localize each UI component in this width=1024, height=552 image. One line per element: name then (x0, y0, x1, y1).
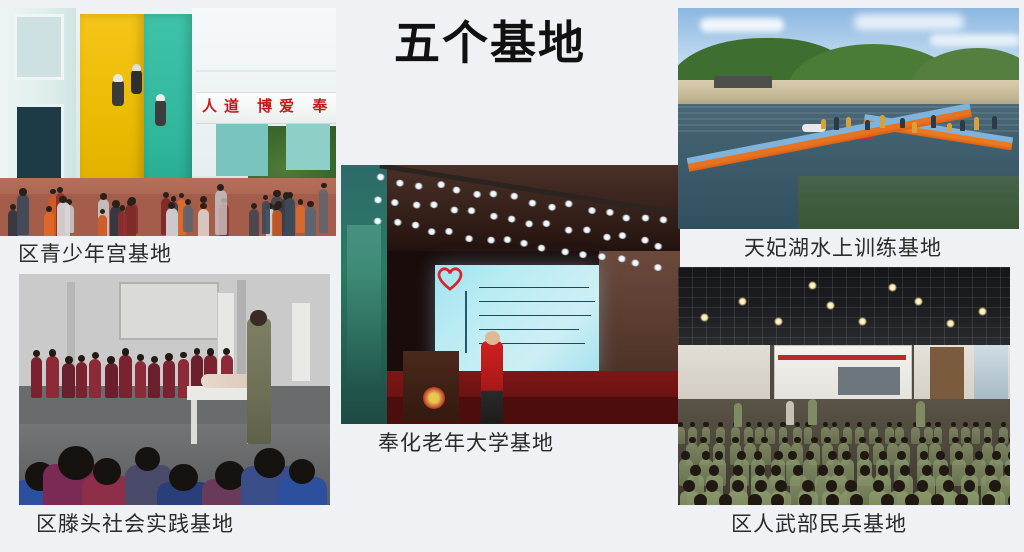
ceiling-lights (678, 267, 1010, 345)
spectator-head (273, 204, 279, 210)
spectator-head (287, 192, 293, 198)
stage-light (506, 215, 516, 223)
stage-light (450, 206, 460, 214)
spectator (285, 198, 294, 236)
militia-head (860, 465, 870, 475)
screen-image-area (838, 367, 900, 395)
spectator (305, 207, 316, 236)
militia-head (951, 422, 956, 427)
trainee (900, 118, 905, 128)
foreground-children (19, 424, 330, 505)
spectator (17, 194, 29, 235)
militia-head (683, 480, 695, 492)
spectator-crowd (0, 160, 336, 236)
presentation-slide: 五个基地 人道 博爱 奉献 区青少年宫基地 (0, 0, 1024, 552)
militia-head (860, 451, 869, 460)
student-head (65, 356, 73, 364)
stage-light (413, 182, 423, 190)
ceiling-lamp (700, 313, 709, 322)
militia-head (964, 480, 976, 492)
militia-head (706, 480, 718, 492)
photo-tengtou-practice-base (19, 274, 330, 505)
cpr-manikin (201, 374, 253, 388)
instructor-head (250, 310, 267, 326)
militia-head (955, 451, 964, 460)
militia-head (975, 451, 984, 460)
militia-head (818, 465, 828, 475)
child-head (169, 464, 197, 491)
stage-light (616, 254, 626, 262)
cloud (700, 18, 784, 32)
militia-head (834, 465, 844, 475)
spectator-head (179, 193, 184, 198)
militia-head (900, 465, 910, 475)
stage-light (427, 227, 437, 235)
militia-head (716, 437, 723, 444)
militia-head (984, 437, 991, 444)
trainee (865, 120, 870, 130)
stage-light (489, 212, 499, 220)
stage-light (653, 263, 663, 271)
screen-text-line (479, 329, 579, 330)
student-head (33, 350, 40, 357)
climber-one (112, 80, 124, 106)
militia-head (832, 422, 837, 427)
seated-student (163, 360, 176, 398)
militia-head (922, 465, 932, 475)
militia-head (1008, 451, 1010, 460)
militia-head (845, 480, 857, 492)
climber-one-helmet (113, 74, 123, 82)
wall-column-right (237, 280, 246, 386)
spectator (57, 202, 69, 236)
stage-light (466, 207, 476, 215)
ceiling-lamp (914, 297, 923, 306)
militia-head (897, 451, 906, 460)
stage-light (373, 196, 383, 204)
militia-head (799, 494, 812, 505)
militia-head (733, 465, 743, 475)
militia-head (718, 422, 723, 427)
militia-head (878, 465, 888, 475)
stage-light (578, 250, 588, 258)
militia-head (901, 437, 908, 444)
presenter (734, 403, 742, 427)
caption-youth-palace-base: 区青少年宫基地 (18, 241, 172, 267)
stage-light (486, 235, 496, 243)
militia-head (700, 437, 707, 444)
militia-head (788, 451, 797, 460)
child-head (58, 446, 93, 480)
militia-head (732, 437, 739, 444)
student-head (194, 348, 201, 355)
stage-light (395, 179, 405, 187)
trainee (974, 117, 979, 130)
spectator-head (263, 195, 268, 200)
ceiling-lamp (808, 281, 817, 290)
stage-light (393, 219, 403, 227)
seated-student (135, 361, 146, 398)
spectator-head (307, 201, 314, 208)
militia-head (859, 437, 866, 444)
stage-light (542, 219, 552, 227)
militia-head (694, 494, 707, 505)
stage-light (411, 221, 421, 229)
militia-head (850, 494, 863, 505)
student-head (78, 355, 85, 362)
screen-text-line (479, 315, 591, 316)
militia-head (985, 465, 995, 475)
militia-head (955, 494, 968, 505)
stage-light (464, 234, 474, 242)
militia-member (678, 427, 685, 444)
screen-divider (465, 291, 467, 353)
spectator-head (50, 189, 56, 195)
spectator-head (46, 206, 52, 212)
photo-youth-palace-base: 人道 博爱 奉献 (0, 8, 336, 236)
photo-senior-college-base (341, 165, 680, 424)
militia-head (964, 437, 971, 444)
lake-scene (678, 8, 1019, 229)
spectator (249, 209, 259, 236)
stage-light (596, 253, 606, 261)
student-head (165, 353, 173, 361)
ceiling-lamp (978, 307, 987, 316)
spectator (98, 215, 107, 236)
stage-light (640, 214, 650, 222)
stage-light (390, 199, 400, 207)
militia-head (875, 437, 882, 444)
trainee (912, 122, 917, 132)
trainee (834, 117, 839, 129)
spectator (198, 209, 209, 236)
militia-head (737, 451, 746, 460)
presenter (916, 401, 925, 427)
militia-head (794, 437, 801, 444)
child-head (135, 447, 160, 471)
child-head (93, 458, 121, 485)
militia-head (920, 451, 929, 460)
seated-student (31, 357, 42, 398)
militia-head (681, 451, 690, 460)
caption-district-militia-base: 区人武部民兵基地 (731, 511, 907, 537)
stage-light (602, 233, 612, 241)
spectator (183, 205, 193, 232)
spectator-head (251, 203, 257, 209)
militia-head (826, 480, 838, 492)
ceiling-lamp (826, 301, 835, 310)
climber-two-helmet (132, 64, 141, 71)
militia-head (780, 422, 785, 427)
militia-head (842, 451, 851, 460)
stage-light (436, 181, 446, 189)
militia-member (830, 427, 839, 444)
stage-light (509, 192, 519, 200)
shore-building (714, 76, 772, 88)
militia-head (932, 437, 939, 444)
militia-head (806, 451, 815, 460)
spectator (215, 190, 227, 235)
spectator (272, 210, 282, 236)
podium (403, 351, 459, 421)
militia-head (1009, 437, 1010, 444)
militia-head (748, 494, 761, 505)
militia-head (881, 494, 894, 505)
stage-light (527, 199, 537, 207)
spectator-head (273, 190, 280, 197)
militia-member (972, 427, 981, 444)
stage-light (560, 247, 570, 255)
seated-student (62, 363, 75, 398)
militia-head (811, 437, 818, 444)
militia-audience (678, 393, 1010, 505)
seated-student (148, 363, 160, 398)
spectator-head (10, 204, 16, 210)
air-conditioner-unit-two (291, 302, 311, 382)
stage-light (452, 186, 462, 194)
stage-light (429, 201, 439, 209)
militia-head (952, 437, 959, 444)
militia-head (793, 465, 803, 475)
trainee (992, 116, 997, 129)
trainee (931, 115, 936, 128)
trainee (846, 117, 851, 127)
ceiling-lamp (738, 297, 747, 306)
caption-tengtou-practice-base: 区滕头社会实践基地 (36, 511, 234, 537)
ceiling-lamp (888, 283, 897, 292)
trainees-on-dock (678, 104, 1019, 144)
spectator-head (298, 199, 303, 204)
spectator-head (171, 196, 177, 202)
militia-head (936, 451, 945, 460)
cloud (854, 14, 964, 30)
student-head (223, 348, 230, 355)
stage-light (587, 206, 597, 214)
child-head (289, 459, 315, 484)
militia-head (887, 422, 892, 427)
student-head (49, 349, 57, 357)
student-head (122, 348, 130, 356)
stage-light (605, 208, 615, 216)
student-head (180, 352, 186, 358)
stage-light (502, 235, 512, 243)
stage-light (653, 242, 663, 250)
trainee (960, 120, 965, 131)
page-title: 五个基地 (340, 14, 640, 72)
reed-grass (798, 176, 1019, 229)
militia-head (917, 480, 929, 492)
militia-head (747, 437, 754, 444)
militia-head (795, 422, 800, 427)
spectator (296, 205, 305, 232)
militia-head (873, 480, 885, 492)
photo-district-militia-base (678, 267, 1010, 505)
militia-head (689, 437, 696, 444)
militia-head (857, 422, 862, 427)
militia-head (905, 494, 918, 505)
militia-head (754, 451, 763, 460)
militia-head (943, 480, 955, 492)
militia-head (771, 465, 781, 475)
militia-head (931, 494, 944, 505)
spectator (166, 208, 178, 236)
screen-title-bar (778, 355, 906, 360)
presenter (808, 399, 817, 425)
cpr-training-scene (19, 274, 330, 505)
ceiling-lamp (858, 317, 867, 326)
balcony-railing (196, 70, 336, 94)
spectator-head (19, 188, 26, 195)
stage-light (537, 244, 547, 252)
caption-tianfei-lake-base: 天妃湖水上训练基地 (744, 235, 942, 261)
militia-head (826, 494, 839, 505)
student-head (92, 352, 99, 359)
climber-three (155, 100, 166, 126)
stage-light (376, 173, 386, 181)
militia-conference-scene (678, 267, 1010, 505)
militia-head (802, 480, 814, 492)
militia-head (828, 451, 837, 460)
cloud (930, 34, 1019, 46)
militia-head (771, 494, 784, 505)
climber-two (131, 70, 142, 94)
militia-head (755, 465, 765, 475)
militia-head (998, 437, 1005, 444)
banner-slogan-text: 人道 博爱 奉献 (202, 94, 336, 120)
stage-light (621, 213, 631, 221)
seated-student (89, 359, 101, 398)
militia-head (1004, 465, 1010, 475)
speaker-body (481, 341, 503, 423)
trainee (947, 123, 952, 132)
stage-light (564, 200, 574, 208)
militia-head (755, 480, 767, 492)
speaker-head (485, 331, 500, 345)
stage-light (659, 216, 669, 224)
militia-head (703, 422, 708, 427)
student-head (151, 356, 158, 363)
militia-head (893, 480, 905, 492)
stage-light (524, 219, 534, 227)
spectator-head (100, 193, 107, 200)
window-upper-left (14, 14, 64, 80)
podium-emblem (423, 387, 445, 409)
auditorium-scene (341, 165, 680, 424)
seated-student (76, 362, 88, 398)
seated-student (105, 363, 118, 398)
militia-head (935, 422, 940, 427)
militia-head (782, 437, 789, 444)
stage-light (617, 231, 627, 239)
stage-light (630, 259, 640, 267)
militia-head (992, 451, 1001, 460)
spectator-head (321, 183, 327, 189)
spectator-head (163, 192, 169, 198)
spectator (319, 189, 328, 233)
spectator (262, 201, 270, 234)
ceiling-lamp (946, 319, 955, 328)
stage-light (564, 226, 574, 234)
militia-head (982, 494, 995, 505)
militia-head (973, 422, 978, 427)
stage-light (519, 240, 529, 248)
militia-head (732, 480, 744, 492)
stage-light (489, 190, 499, 198)
student-head (107, 356, 115, 364)
spectator-head (200, 196, 207, 203)
militia-head (775, 480, 787, 492)
stage-light (444, 227, 454, 235)
spectator-head (200, 203, 207, 210)
spectator-head (57, 187, 63, 193)
militia-head (965, 465, 975, 475)
stage-light (582, 226, 592, 234)
spectator (118, 211, 127, 236)
stage-light (472, 190, 482, 198)
militia-head (989, 480, 1001, 492)
spectator (44, 212, 54, 236)
ceiling-lamp (774, 317, 783, 326)
stage-light (373, 217, 383, 225)
militia-head (774, 451, 783, 460)
militia-head (1008, 494, 1010, 505)
militia-head (985, 422, 990, 427)
seated-student (46, 356, 59, 398)
militia-head (719, 494, 732, 505)
militia-head (879, 451, 888, 460)
militia-head (702, 451, 711, 460)
militia-head (963, 422, 968, 427)
trainee (821, 119, 826, 130)
militia-head (709, 465, 719, 475)
caption-senior-college-base: 奉化老年大学基地 (378, 430, 554, 456)
climbing-wall-scene: 人道 博爱 奉献 (0, 8, 336, 236)
militia-head (690, 465, 700, 475)
photo-tianfei-lake-base (678, 8, 1019, 229)
seated-student (119, 355, 132, 398)
stage-light (547, 203, 557, 211)
stage-light (412, 201, 422, 209)
student-head (137, 354, 143, 360)
trainee (880, 115, 885, 127)
stage-light (640, 236, 650, 244)
presenter (786, 401, 794, 425)
screen-text-line (479, 301, 595, 302)
climber-three-helmet (156, 94, 165, 101)
militia-head (715, 451, 724, 460)
